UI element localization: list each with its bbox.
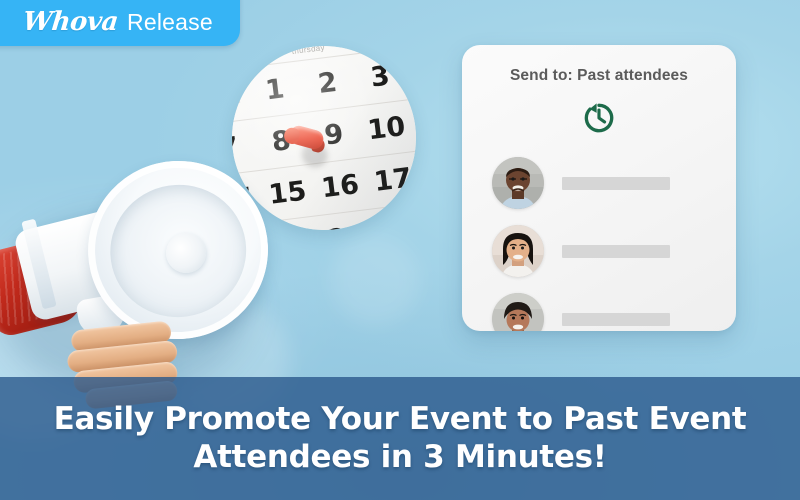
attendee-avatar-3: [492, 293, 544, 331]
calendar-date: 16: [312, 168, 368, 205]
headline-line-2: Attendees in 3 Minutes!: [193, 439, 606, 477]
attendee-avatar-2: [492, 225, 544, 277]
promo-graphic: Whova Release wednesday thursday 31 1 2 …: [0, 0, 800, 500]
headline-banner: Easily Promote Your Event to Past Event …: [0, 377, 800, 500]
calendar-date: 23: [318, 220, 374, 230]
calendar-date: 3: [352, 58, 408, 95]
list-item: [492, 155, 706, 211]
pushpin-icon: [282, 121, 333, 172]
recipient-list: [462, 155, 736, 331]
calendar-day-header: wednesday: [232, 48, 283, 63]
card-title: Send to: Past attendees: [462, 67, 736, 85]
background-blob: [330, 235, 420, 325]
list-item: [492, 291, 706, 331]
list-item: [492, 223, 706, 279]
whova-logo: Whova: [22, 7, 120, 37]
calendar-date: 17: [365, 162, 416, 199]
megaphone-image: [0, 155, 280, 415]
whova-release-badge: Whova Release: [0, 0, 240, 46]
name-placeholder-bar: [562, 313, 670, 326]
attendee-avatar-1: [492, 157, 544, 209]
send-to-card: Send to: Past attendees: [462, 45, 736, 331]
calendar-date: 2: [299, 65, 355, 102]
name-placeholder-bar: [562, 245, 670, 258]
name-placeholder-bar: [562, 177, 670, 190]
calendar-date: 24: [371, 213, 416, 230]
history-clock-icon: [462, 99, 736, 137]
calendar-date: 10: [358, 110, 414, 147]
calendar-date: 1: [247, 71, 303, 108]
headline-line-1: Easily Promote Your Event to Past Event: [54, 401, 747, 439]
badge-release-label: Release: [127, 9, 213, 36]
calendar-day-header: thursday: [281, 46, 335, 57]
